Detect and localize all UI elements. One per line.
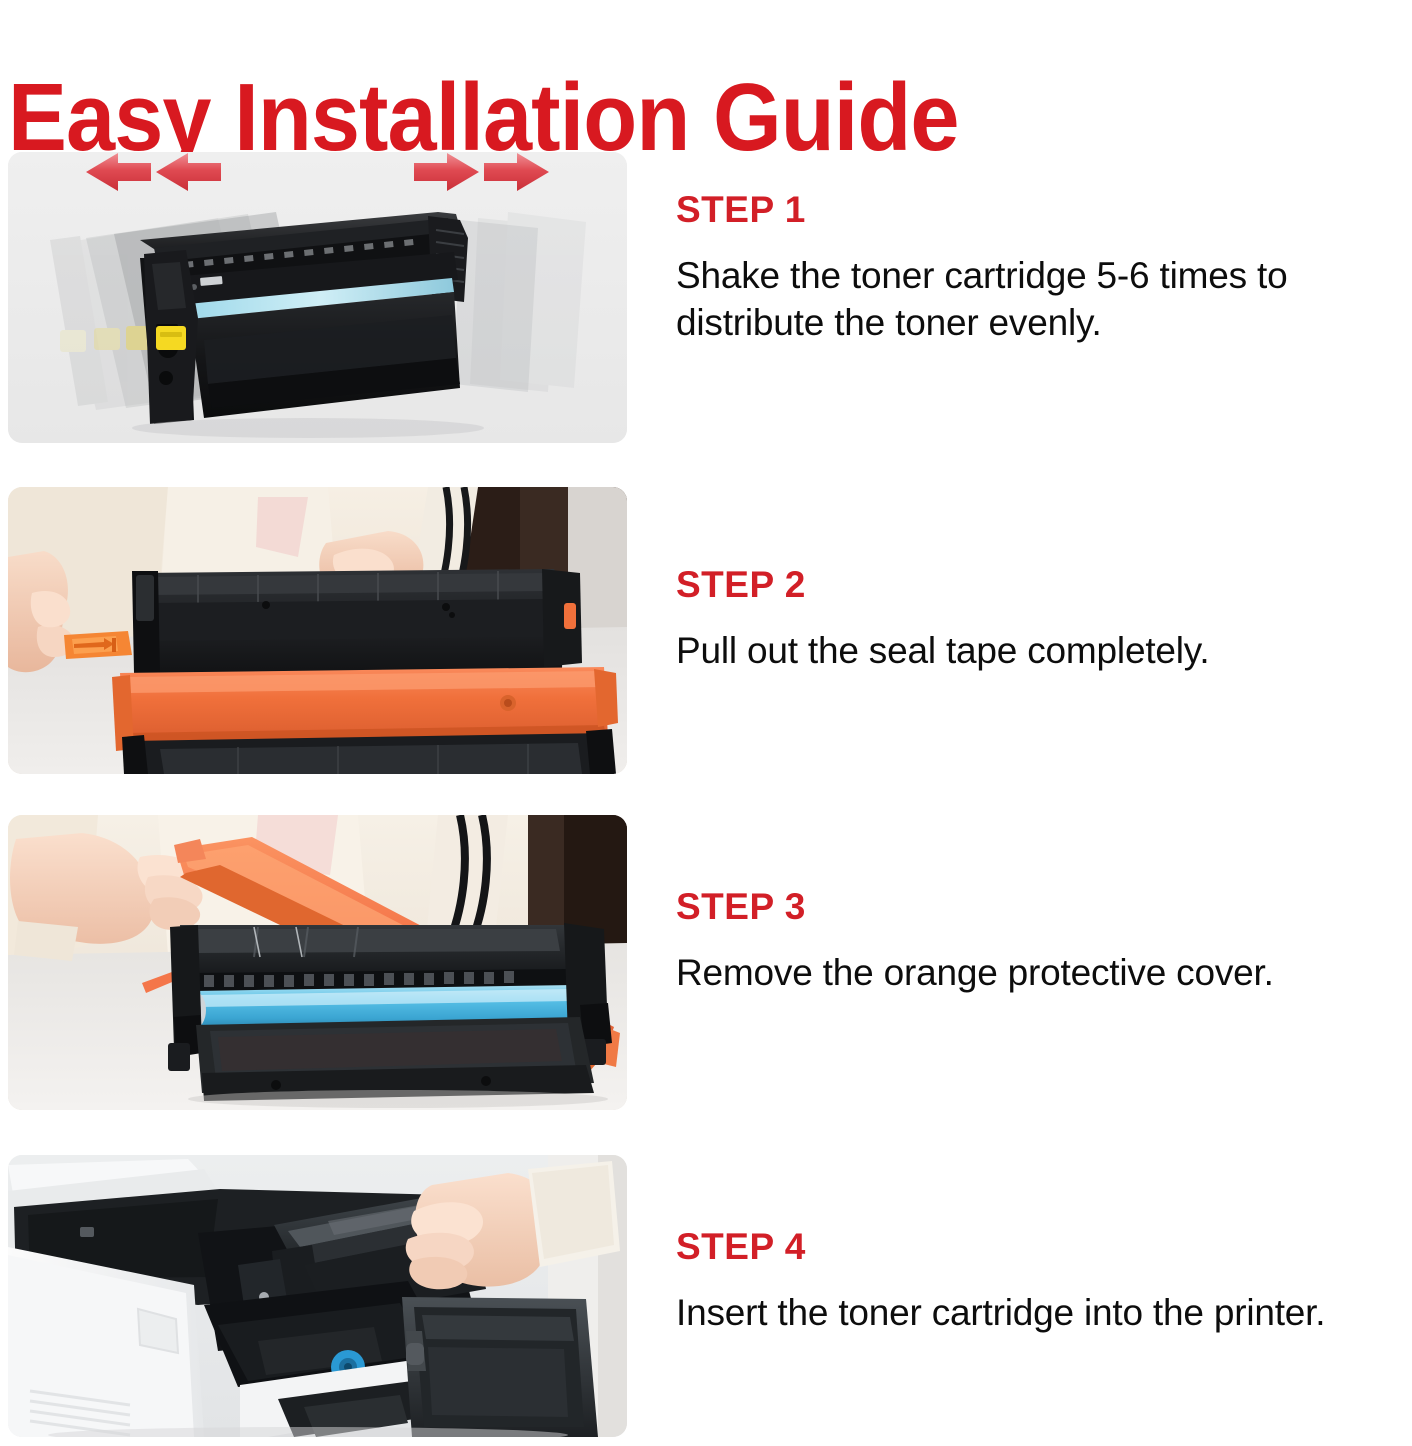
seal-tape-tab [64,631,132,659]
installation-guide-page: Easy Installation Guide [0,0,1412,1446]
printer-front-door [402,1297,598,1437]
step-4-image [8,1155,627,1437]
step-row-3: STEP 3 Remove the orange protective cove… [0,815,1412,1110]
step-3-text-column: STEP 3 Remove the orange protective cove… [676,887,1412,996]
step-1-description: Shake the toner cartridge 5-6 times to d… [676,252,1412,346]
step-1-label: STEP 1 [676,190,1412,230]
removing-orange-cover-illustration [8,815,627,1110]
step-4-label: STEP 4 [676,1227,1412,1267]
step-2-text-column: STEP 2 Pull out the seal tape completely… [676,565,1412,674]
step-1-text-column: STEP 1 Shake the toner cartridge 5-6 tim… [676,190,1412,346]
step-row-2: STEP 2 Pull out the seal tape completely… [0,487,1412,774]
step-3-label: STEP 3 [676,887,1412,927]
inserting-cartridge-into-printer-illustration [8,1155,627,1437]
step-3-image [8,815,627,1110]
step-1-image [8,152,627,443]
step-2-label: STEP 2 [676,565,1412,605]
step-2-description: Pull out the seal tape completely. [676,627,1412,674]
step-2-image [8,487,627,774]
pulling-seal-tape-illustration [8,487,627,774]
step-3-description: Remove the orange protective cover. [676,949,1412,996]
step-row-1: STEP 1 Shake the toner cartridge 5-6 tim… [0,152,1412,443]
toner-cartridge-shaking-illustration [8,152,627,443]
step-4-text-column: STEP 4 Insert the toner cartridge into t… [676,1227,1412,1336]
step-row-4: STEP 4 Insert the toner cartridge into t… [0,1155,1412,1437]
step-4-description: Insert the toner cartridge into the prin… [676,1289,1412,1336]
